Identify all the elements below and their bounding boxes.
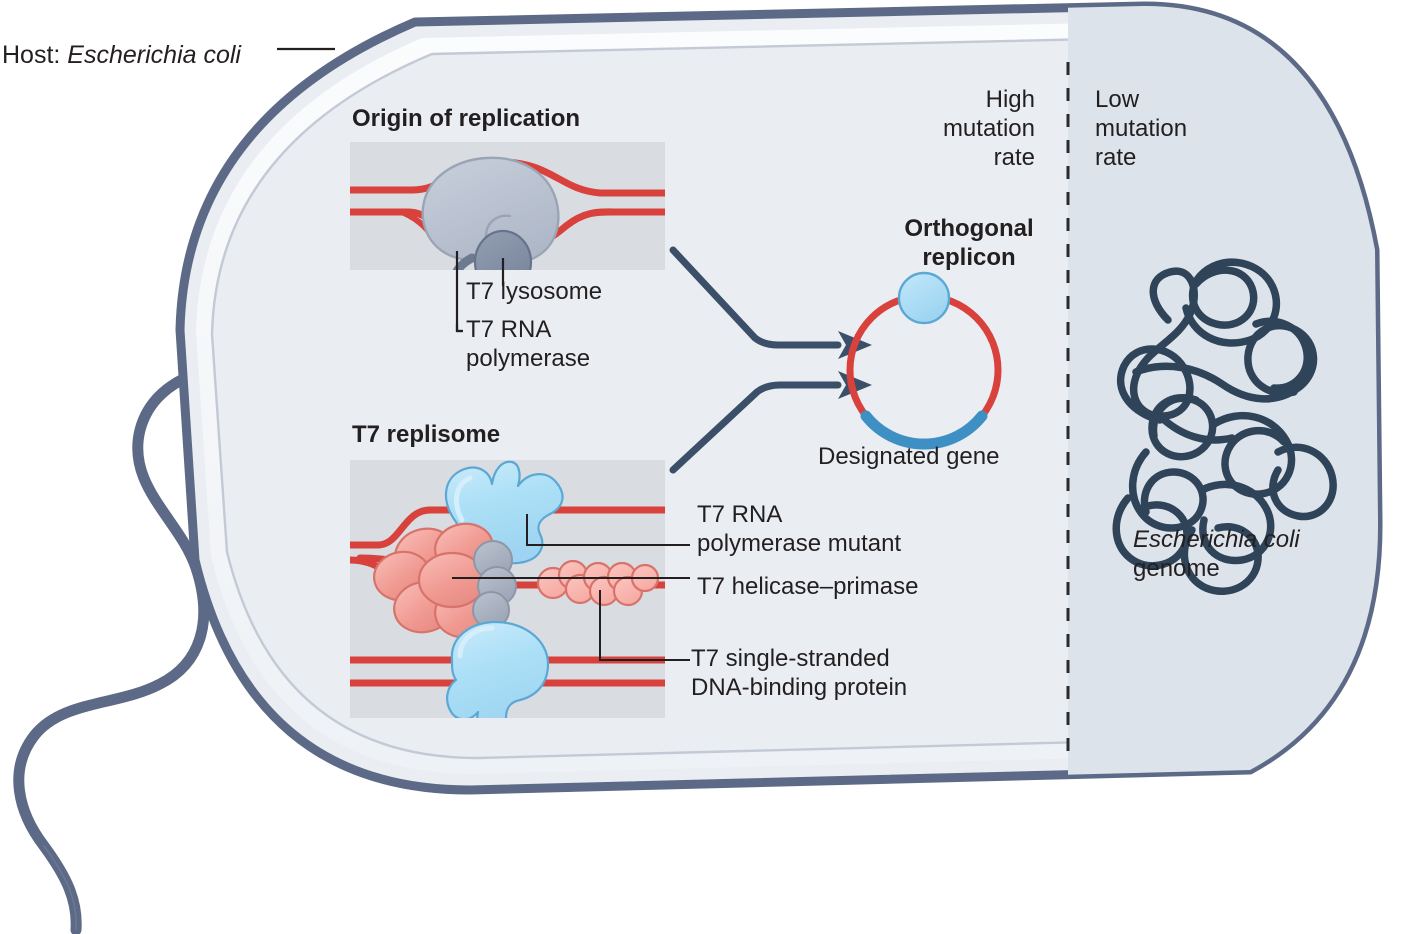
callout-t7-rna-polymerase-line2: polymerase: [466, 345, 590, 372]
designated-gene-label: Designated gene: [818, 442, 999, 471]
host-label: Host: Escherichia coli: [2, 40, 241, 70]
callout-rnap-mutant-line1: T7 RNA: [697, 501, 782, 528]
high-mutation-line2: mutation: [943, 115, 1035, 142]
high-mutation-line3: rate: [994, 144, 1035, 171]
callout-t7-rna-polymerase: T7 RNApolymerase: [466, 315, 590, 373]
t7-replisome-panel: [350, 460, 668, 736]
low-mutation-line3: rate: [1095, 144, 1136, 171]
diagram-canvas: Host: Escherichia coli Origin of replica…: [0, 0, 1417, 934]
origin-panel-title: Origin of replication: [352, 104, 580, 133]
host-label-prefix: Host:: [2, 41, 67, 69]
high-mutation-rate-label: Highmutationrate: [905, 85, 1035, 172]
callout-t7-ssb-protein: T7 single-strandedDNA-binding protein: [691, 644, 907, 702]
callout-ssb-line1: T7 single-stranded: [691, 645, 890, 672]
genome-organism-name: Escherichia coli: [1133, 526, 1300, 553]
callout-t7-lysosome: T7 lysosome: [466, 277, 602, 306]
high-mutation-line1: High: [986, 86, 1035, 113]
host-label-organism: Escherichia coli: [67, 41, 241, 69]
diagram-artwork: [0, 0, 1417, 934]
callout-ssb-line2: DNA-binding protein: [691, 674, 907, 701]
low-mutation-rate-label: Lowmutationrate: [1095, 85, 1187, 172]
replisome-panel-title: T7 replisome: [352, 420, 500, 449]
callout-t7-rna-polymerase-line1: T7 RNA: [466, 316, 551, 343]
orthogonal-replicon-title: Orthogonalreplicon: [860, 214, 1078, 272]
callout-t7-helicase-primase: T7 helicase–primase: [697, 572, 918, 601]
replicon-origin-marker: [899, 273, 949, 323]
orthogonal-replicon-title-line2: replicon: [922, 244, 1015, 271]
ssb-bead-chain: [538, 561, 658, 605]
callout-rnap-mutant-line2: polymerase mutant: [697, 530, 901, 557]
callout-t7-rna-polymerase-mutant: T7 RNApolymerase mutant: [697, 500, 901, 558]
genome-suffix: genome: [1133, 555, 1220, 582]
low-mutation-line2: mutation: [1095, 115, 1187, 142]
low-mutation-line1: Low: [1095, 86, 1139, 113]
orthogonal-replicon-title-line1: Orthogonal: [904, 215, 1033, 242]
escherichia-coli-genome-label: Escherichia coligenome: [1133, 525, 1300, 583]
